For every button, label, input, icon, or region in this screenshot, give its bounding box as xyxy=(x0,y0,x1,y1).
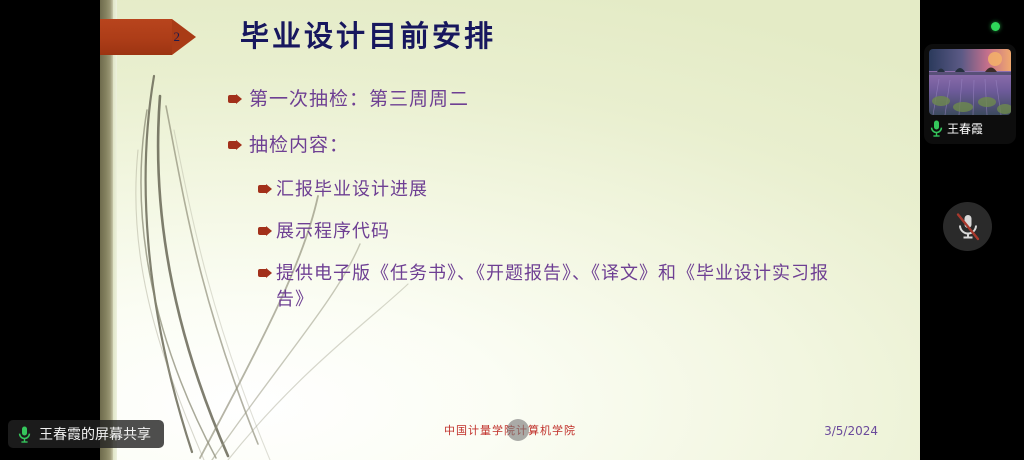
school-emblem-icon xyxy=(507,419,529,441)
arrow-bullet-icon xyxy=(258,268,272,278)
bullet-item: 抽检内容： xyxy=(228,132,888,160)
bullet-item: 提供电子版《任务书》、《开题报告》、《译文》和《毕业设计实习报告》 xyxy=(228,261,856,313)
bullet-text: 提供电子版《任务书》、《开题报告》、《译文》和《毕业设计实习报告》 xyxy=(276,261,856,313)
bullet-text: 第一次抽检：第三周周二 xyxy=(249,86,469,114)
arrow-bullet-icon xyxy=(258,226,272,236)
participant-video-thumbnail xyxy=(929,49,1011,115)
bullet-text: 汇报毕业设计进展 xyxy=(276,177,428,203)
lavender-field-photo-icon xyxy=(929,49,1011,115)
slide-left-accent-highlight xyxy=(113,0,117,460)
slide-title: 毕业设计目前安排 xyxy=(240,13,496,55)
mute-toggle-button[interactable] xyxy=(943,202,992,251)
microphone-muted-icon xyxy=(955,212,981,242)
bullet-text: 抽检内容： xyxy=(249,132,349,160)
arrow-bullet-icon xyxy=(228,94,242,104)
participant-name: 王春霞 xyxy=(947,120,983,137)
participant-name-row: 王春霞 xyxy=(930,120,983,137)
participant-video-tile[interactable]: 王春霞 xyxy=(924,44,1016,144)
arrow-bullet-icon xyxy=(258,184,272,194)
screen-share-viewer: 2 毕业设计目前安排 第一次抽检：第三周周二 抽检内容： 汇报毕业设计进展 展示… xyxy=(0,0,1024,460)
microphone-icon xyxy=(930,120,943,137)
screen-share-indicator: 王春霞的屏幕共享 xyxy=(8,420,164,448)
slide-number-banner: 2 xyxy=(100,19,196,55)
microphone-icon xyxy=(18,426,31,443)
bullet-item: 展示程序代码 xyxy=(228,219,888,245)
footer-date: 3/5/2024 xyxy=(824,424,878,438)
slide-body: 第一次抽检：第三周周二 抽检内容： 汇报毕业设计进展 展示程序代码 提供电子版《… xyxy=(228,86,888,329)
active-status-dot-icon xyxy=(991,22,1000,31)
slide-number: 2 xyxy=(100,19,180,55)
presentation-slide: 2 毕业设计目前安排 第一次抽检：第三周周二 抽检内容： 汇报毕业设计进展 展示… xyxy=(100,0,920,460)
slide-left-accent-band xyxy=(100,0,113,460)
arrow-bullet-icon xyxy=(228,140,242,150)
bullet-item: 汇报毕业设计进展 xyxy=(228,177,888,203)
screen-share-label: 王春霞的屏幕共享 xyxy=(39,424,151,444)
bullet-item: 第一次抽检：第三周周二 xyxy=(228,86,888,114)
bullet-text: 展示程序代码 xyxy=(276,219,390,245)
